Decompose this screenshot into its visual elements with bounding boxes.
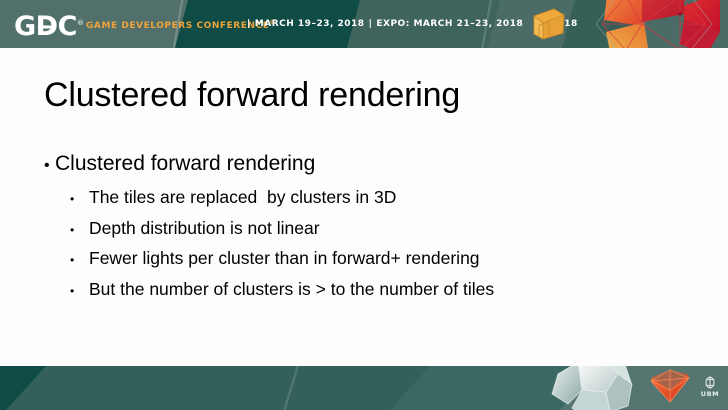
ubm-label: UBM <box>698 390 722 398</box>
ubm-globe-icon <box>704 376 716 389</box>
list-item-label: Depth distribution is not linear <box>89 214 320 243</box>
list-item-label: Clustered forward rendering <box>55 150 315 178</box>
header-separator-1: | <box>247 19 251 29</box>
gdc-logo-g: G <box>14 11 36 42</box>
header-separator-2: | <box>369 19 373 29</box>
list-item: • Depth distribution is not linear <box>70 214 704 245</box>
bullet-dot-icon: • <box>70 277 89 306</box>
bullet-dot-icon: • <box>70 216 89 245</box>
header-tagline-text: GAME DEVELOPERS CONFERENCE <box>86 21 269 31</box>
list-item-label: But the number of clusters is > to the n… <box>89 275 494 304</box>
list-item: • Clustered forward rendering <box>44 150 704 180</box>
white-dodecahedron-icon <box>548 366 640 410</box>
ubm-logo: UBM <box>698 376 722 398</box>
list-item-label: Fewer lights per cluster than in forward… <box>89 244 480 273</box>
gdc-presentation-slide: GDC® GAME DEVELOPERS CONFERENCE® |MARCH … <box>0 0 728 410</box>
gdc-logo-c: C <box>58 11 77 42</box>
bullet-dot-icon: • <box>44 152 55 180</box>
orange-wireframe-cube-icon <box>528 5 568 43</box>
red-hexagon-polygon-graphic <box>580 0 728 48</box>
gdc-header-bar: GDC® GAME DEVELOPERS CONFERENCE® |MARCH … <box>0 0 728 48</box>
header-dates-main: MARCH 19–23, 2018 <box>255 19 365 29</box>
list-item-label: The tiles are replaced by clusters in 3D <box>89 183 396 212</box>
header-dates-expo: EXPO: MARCH 21–23, 2018 <box>376 19 523 29</box>
orange-diamond-icon <box>648 368 692 408</box>
gdc-logo: GDC® <box>14 8 83 42</box>
gdc-logo-trademark: ® <box>77 19 84 27</box>
list-item: • The tiles are replaced by clusters in … <box>70 183 704 214</box>
page-title: Clustered forward rendering <box>44 76 460 115</box>
bullet-dot-icon: • <box>70 185 89 214</box>
gdc-logo-d: D <box>36 12 58 42</box>
sub-bullet-list: • The tiles are replaced by clusters in … <box>70 183 704 305</box>
list-item: • Fewer lights per cluster than in forwa… <box>70 244 704 275</box>
list-item: • But the number of clusters is > to the… <box>70 275 704 306</box>
bullet-dot-icon: • <box>70 246 89 275</box>
slide-content: • Clustered forward rendering • The tile… <box>44 150 704 305</box>
